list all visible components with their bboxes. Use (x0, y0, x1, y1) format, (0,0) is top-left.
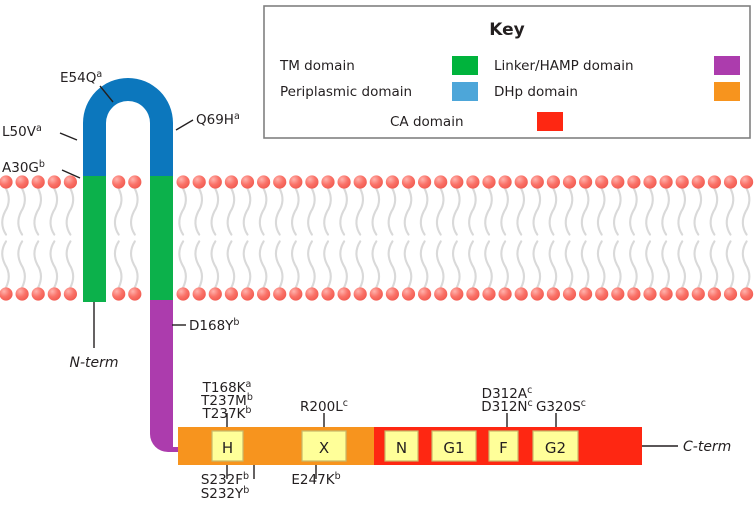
key-label: Periplasmic domain (280, 84, 412, 100)
lipid-bilayer: {} (0, 175, 753, 300)
key-swatch (714, 82, 740, 101)
motif-letter: N (396, 439, 407, 457)
mutation-label: E247Kb (291, 471, 340, 488)
key-swatch (714, 56, 740, 75)
mutation-label: L50Va (2, 123, 42, 140)
terminal-leaders (94, 302, 678, 446)
motif-letter: H (222, 439, 233, 457)
mutation-label: S232Yb (201, 485, 250, 502)
key-label: CA domain (390, 114, 464, 130)
periplasmic-domain (83, 78, 173, 185)
mutation-label: A30Gb (2, 159, 45, 176)
key-swatch (537, 112, 563, 131)
key-swatch (452, 82, 478, 101)
mutation-label: E54Qa (60, 69, 102, 86)
mutation-label: G320Sc (536, 398, 586, 415)
tm-domain (83, 176, 173, 302)
key-label: TM domain (279, 58, 355, 74)
c-term-label: C-term (683, 439, 731, 455)
key-label: DHp domain (494, 84, 578, 100)
motif-letter: F (499, 439, 508, 457)
protein-domain-diagram: {} HXNG1FG2 E54QaL50VaA30GbQ69HaD168YbT1… (0, 0, 756, 508)
key-title: Key (489, 20, 525, 40)
motif-letter: X (319, 439, 329, 457)
key-label: Linker/HAMP domain (494, 58, 634, 74)
mutation-label: R200Lc (300, 398, 348, 415)
mutation-label: Q69Ha (196, 111, 240, 128)
mutation-label: D168Yb (189, 317, 239, 334)
motif-letter: G2 (545, 439, 566, 457)
mutation-label: T237Kb (202, 405, 252, 422)
key-swatch (452, 56, 478, 75)
mutation-label: D312Nc (481, 398, 533, 415)
motif-letter: G1 (443, 439, 464, 457)
n-term-label: N-term (69, 355, 118, 371)
